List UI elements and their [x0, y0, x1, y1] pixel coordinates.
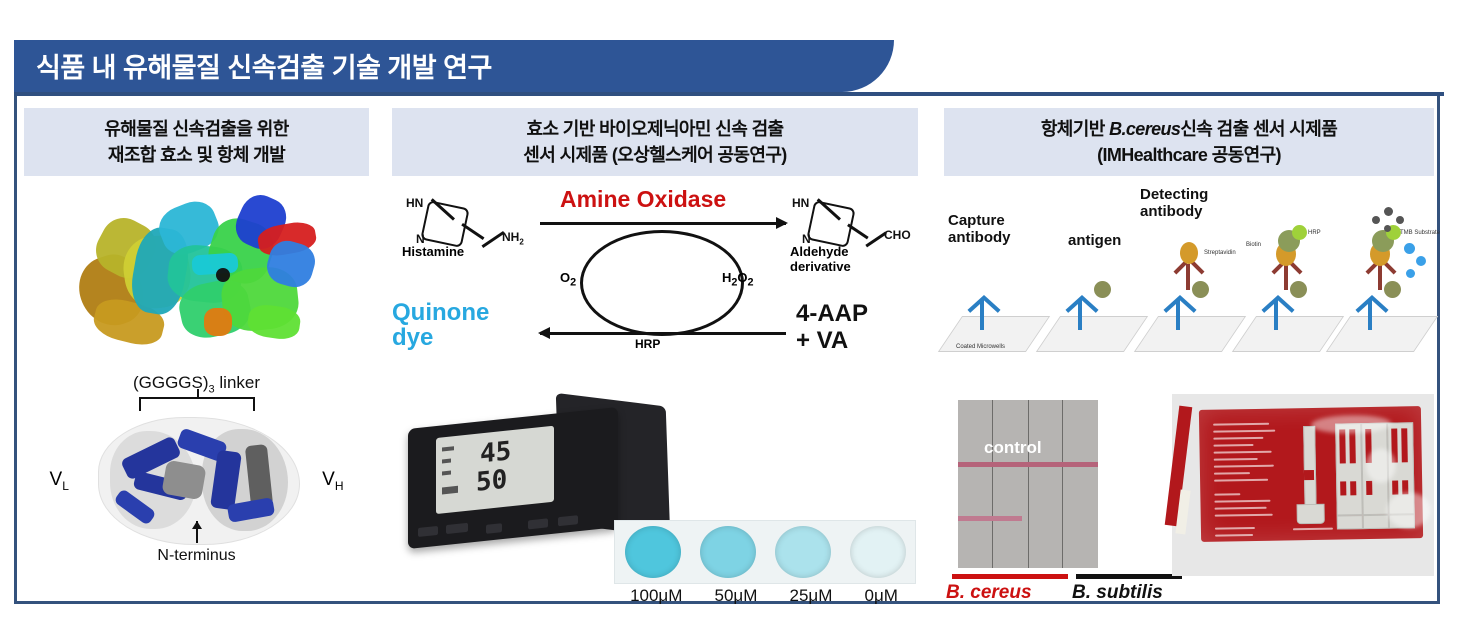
o2-label: O2	[560, 270, 576, 289]
well-50um	[700, 526, 756, 578]
elisa-stage-3: Streptavidin	[1146, 244, 1238, 352]
control-line	[958, 462, 1098, 467]
antigen-label: antigen	[1068, 232, 1121, 249]
n-terminus-arrow-icon	[196, 521, 198, 543]
amine-oxidase-label: Amine Oxidase	[560, 186, 726, 213]
coated-microwells-label: Coated Microwells	[956, 344, 1005, 350]
coated-microwell-plate	[1232, 316, 1344, 352]
n-terminus-label: N-terminus	[157, 547, 235, 565]
linker-bracket	[139, 397, 255, 411]
column1-header-line1: 유해물질 신속검출을 위한	[30, 116, 363, 142]
hrp-label: HRP	[1308, 230, 1321, 236]
well-0um	[850, 526, 906, 578]
column1-header: 유해물질 신속검출을 위한 재조합 효소 및 항체 개발	[24, 108, 369, 176]
bcereus-label: B. cereus	[946, 582, 1032, 604]
quinone-dye-label: Quinone dye	[392, 300, 489, 350]
well-label-0um: 0μM	[865, 586, 898, 606]
tmb-substrate-label: TMB Substrate	[1400, 230, 1440, 236]
bsubtilis-underline	[1076, 574, 1182, 579]
coated-microwell-plate	[1326, 316, 1438, 352]
vh-label: VH	[322, 469, 343, 493]
device-lcd-screen: 45 50	[436, 426, 554, 514]
slide-root: 식품 내 유해물질 신속검출 기술 개발 연구 유해물질 신속검출을 위한 재조…	[0, 0, 1458, 620]
control-label: control	[984, 438, 1042, 458]
elisa-stage-4: Biotin HRP	[1244, 228, 1336, 352]
substrate-particle	[1372, 216, 1380, 224]
column2-header-line2: 센서 시제품 (오상헬스케어 공동연구)	[398, 142, 912, 168]
title-banner: 식품 내 유해물질 신속검출 기술 개발 연구	[14, 40, 894, 92]
elisa-stage-1: Coated Microwells	[950, 286, 1042, 352]
lateral-flow-strips-photo: control	[958, 400, 1098, 568]
hrp-label: HRP	[635, 337, 660, 351]
device-body: 45 50	[408, 407, 618, 549]
bsubtilis-label: B. subtilis	[1072, 582, 1163, 604]
test-line	[958, 516, 1022, 521]
reverse-reaction-arrow-icon	[540, 332, 786, 335]
column2-header: 효소 기반 바이오제닉아민 신속 검출 센서 시제품 (오상헬스케어 공동연구)	[392, 108, 918, 176]
vl-label: VL	[50, 469, 69, 493]
column3-header-line1: 항체기반 B.cereus신속 검출 센서 시제품	[950, 116, 1428, 142]
well-label-50um: 50μM	[715, 586, 758, 606]
enzymatic-reaction-scheme: HN N NH2 Histamine Amine Oxidase O2 H2O2…	[392, 182, 912, 357]
elisa-stage-5: TMB Substrate	[1338, 202, 1430, 352]
detecting-antibody-label: Detecting antibody	[1140, 186, 1208, 220]
column-biogenic-amine-sensor: 효소 기반 바이오제닉아민 신속 검출 센서 시제품 (오상헬스케어 공동연구)…	[392, 108, 918, 357]
column3-header-line2: (IMHealthcare 공동연구)	[950, 142, 1428, 168]
streptavidin-label: Streptavidin	[1204, 250, 1236, 256]
bcereus-underline	[952, 574, 1068, 579]
kit-package-card	[1199, 406, 1423, 542]
elisa-schematic-figure: Capture antibody antigen Detecting antib…	[944, 180, 1434, 352]
column2-header-line1: 효소 기반 바이오제닉아민 신속 검출	[398, 116, 912, 142]
column-bcereus-antibody-sensor: 항체기반 B.cereus신속 검출 센서 시제품 (IMHealthcare …	[944, 108, 1434, 352]
product-kit-photo	[1172, 394, 1434, 576]
elisa-stage-2	[1048, 286, 1140, 352]
well-concentration-labels: 100μM 50μM 25μM 0μM	[614, 586, 914, 606]
forward-reaction-arrow-icon	[540, 222, 786, 225]
protein-ribbon-figure	[72, 184, 322, 369]
aldehyde-derivative-label: Aldehyde derivative	[790, 244, 912, 274]
well-25um	[775, 526, 831, 578]
column3-header: 항체기반 B.cereus신속 검출 센서 시제품 (IMHealthcare …	[944, 108, 1434, 176]
antigen-dot-icon	[1094, 281, 1111, 298]
lcd-value-bottom: 50	[476, 465, 507, 498]
coated-microwell-plate	[1036, 316, 1148, 352]
capture-antibody-label: Capture antibody	[948, 212, 1011, 246]
microwell-strip-photo	[614, 520, 916, 584]
cofactor-cycle-circle-icon	[580, 230, 744, 336]
page-title: 식품 내 유해물질 신속검출 기술 개발 연구	[36, 46, 492, 85]
well-label-25um: 25μM	[790, 586, 833, 606]
column-recombinant-enzyme-antibody: 유해물질 신속검출을 위한 재조합 효소 및 항체 개발	[24, 108, 369, 563]
histamine-label: Histamine	[402, 244, 464, 259]
product-particle	[1404, 243, 1415, 254]
scfv-figure: (GGGGS)3 linker VL VH N-terminus	[52, 373, 342, 563]
bcereus-italic: B.cereus	[1109, 119, 1180, 139]
well-100um	[625, 526, 681, 578]
aap-va-label: 4-AAP + VA	[796, 300, 868, 354]
well-label-100um: 100μM	[630, 586, 682, 606]
coated-microwell-plate	[1134, 316, 1246, 352]
h2o2-label: H2O2	[722, 270, 754, 289]
biotin-label: Biotin	[1246, 242, 1261, 248]
column1-header-line2: 재조합 효소 및 항체 개발	[30, 142, 363, 168]
